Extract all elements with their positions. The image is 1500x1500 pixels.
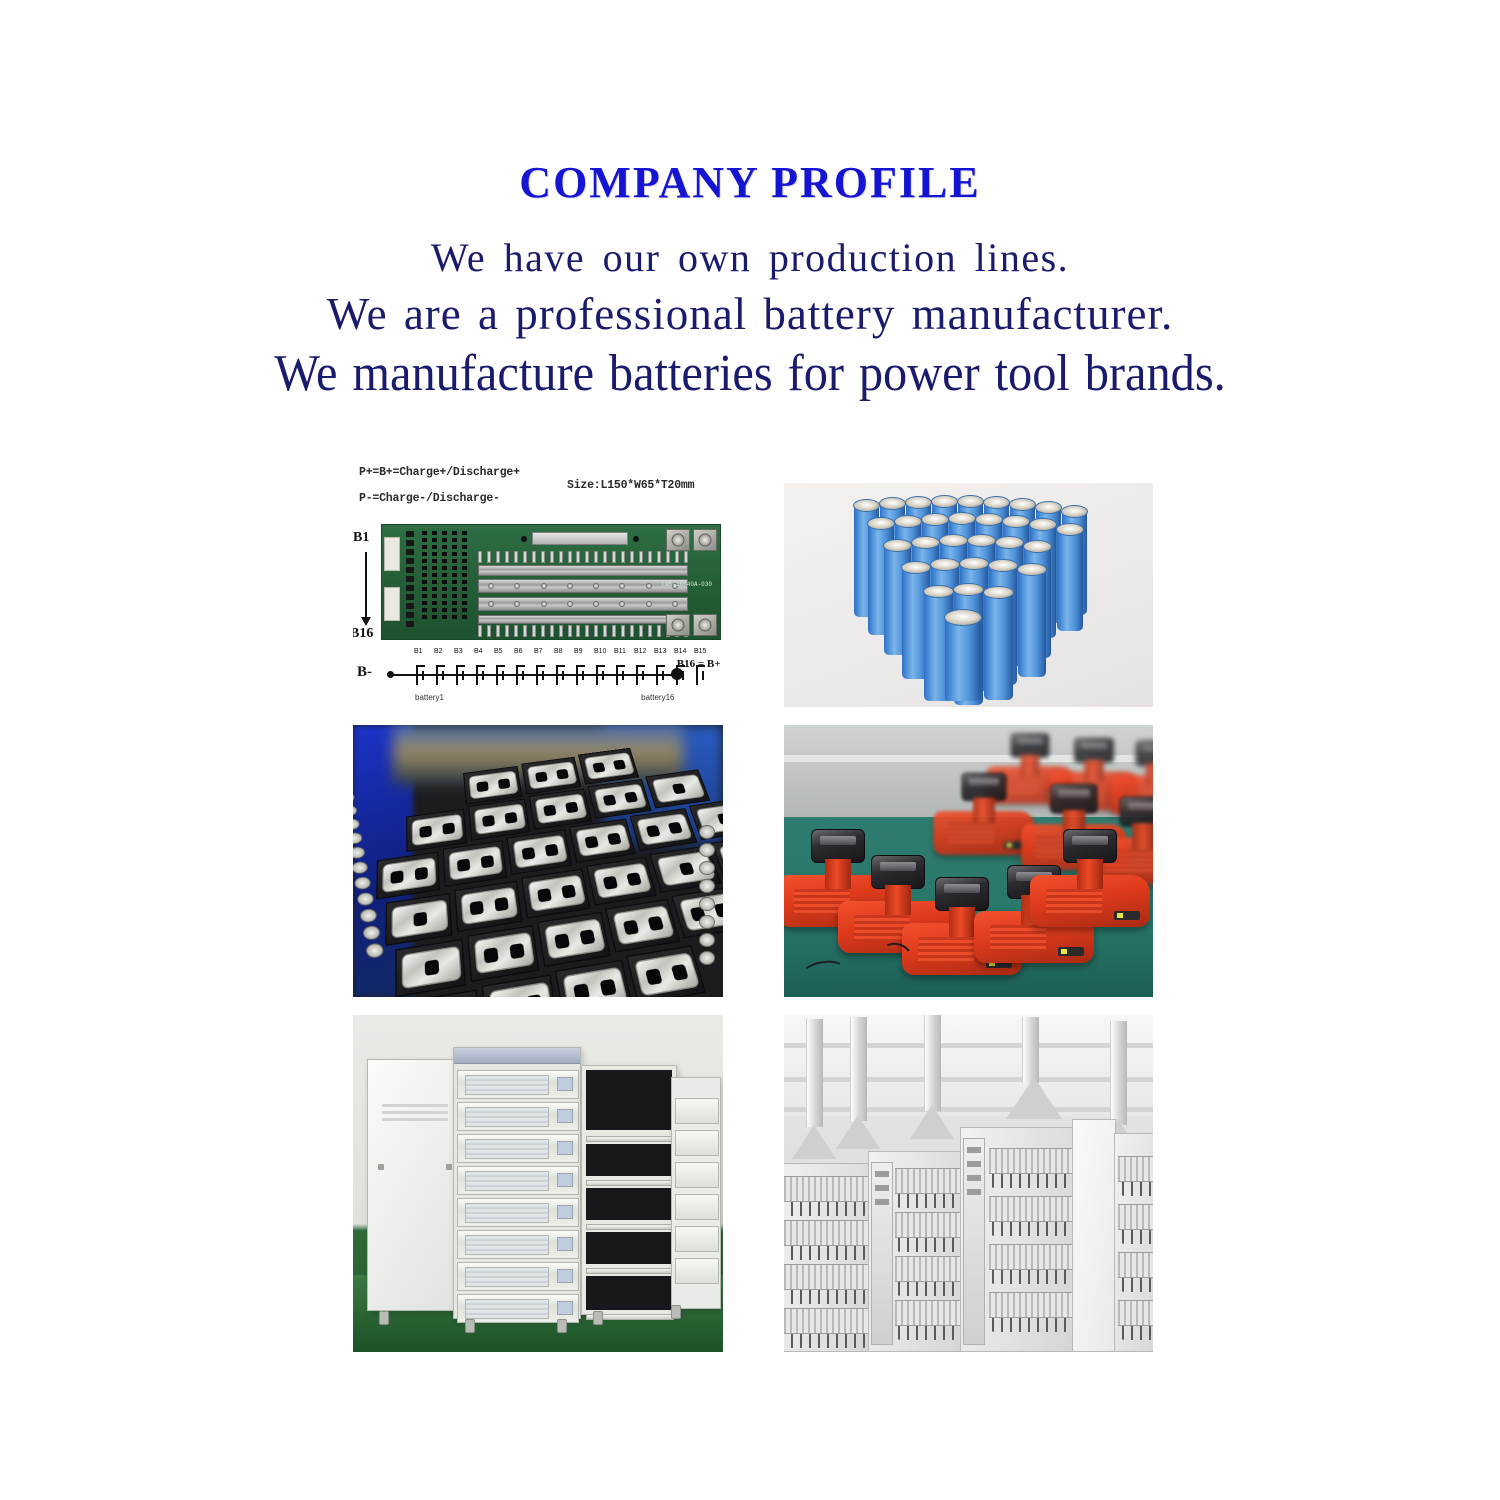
- rack-caster: [593, 1311, 603, 1325]
- schematic-cell-label: B11: [614, 648, 626, 655]
- bms-channel-range: B1 B16: [353, 522, 379, 642]
- heading-block: COMPANY PROFILE We have our own producti…: [0, 160, 1500, 404]
- exhaust-duct: [806, 1019, 823, 1127]
- bms-channel-first: B1: [353, 530, 369, 546]
- test-channel-unit: [675, 1162, 719, 1188]
- bms-board-photo: B1 B16: [353, 522, 723, 642]
- cabinet-shelf: [989, 1244, 1072, 1270]
- prismatic-cell: [467, 925, 539, 982]
- cabinet-cords: [784, 1334, 869, 1348]
- schematic-cell-label: B15: [694, 648, 706, 655]
- cabinet-cords: [989, 1318, 1071, 1332]
- schematic-cell-label: B4: [474, 648, 483, 655]
- pcb-terminal-2: [693, 529, 717, 551]
- power-tool-chargers-photo: [784, 725, 1154, 997]
- schematic-cell: B3: [453, 660, 471, 688]
- test-channel-unit: [675, 1258, 719, 1284]
- prismatic-cell: [395, 939, 466, 997]
- schematic-cell-label: B6: [514, 648, 523, 655]
- rack-caster: [671, 1305, 681, 1319]
- cabinet-shelf: [784, 1176, 870, 1202]
- bms-channel-last: B16: [353, 626, 373, 642]
- cabinet-shelf: [895, 1300, 960, 1326]
- prismatic-cell: [569, 819, 636, 863]
- schematic-cell-label: B12: [634, 648, 646, 655]
- pcb-resistor-strip-3: [442, 531, 447, 635]
- tray-gap: [586, 1188, 672, 1220]
- cell-tray: [586, 1224, 674, 1230]
- exhaust-duct: [1110, 1021, 1127, 1125]
- cabinet-shelf: [784, 1220, 870, 1246]
- test-channel-unit: [457, 1134, 579, 1163]
- tray-gap: [586, 1144, 672, 1176]
- pcb-screw-row-2: [478, 601, 688, 607]
- schematic-cell-label: B9: [574, 648, 583, 655]
- gallery-row-2: [353, 725, 1153, 997]
- schematic-cell-label: B1: [414, 648, 423, 655]
- pcb-resistor-strip-1: [422, 531, 427, 635]
- schematic-cell-row: B1 B2 B3 B4 B5 B6 B7 B8 B9 B10 B11 B12 B…: [413, 660, 711, 688]
- gallery-row-1: P+=B+=Charge+/Discharge+ P-=Charge-/Disc…: [353, 466, 1153, 707]
- prismatic-cell: [443, 840, 508, 887]
- prismatic-cell: [521, 869, 591, 919]
- schematic-cell: B6: [513, 660, 531, 688]
- cell-tray: [586, 1180, 674, 1186]
- monitor-screen: [586, 1070, 672, 1130]
- rack-caster: [379, 1311, 389, 1325]
- test-rack-background: [671, 1077, 721, 1309]
- schematic-cell-label: B7: [534, 648, 543, 655]
- cabinet-shelf: [895, 1168, 960, 1194]
- cabinet-shelf: [895, 1212, 960, 1238]
- exhaust-duct: [1022, 1017, 1039, 1083]
- fume-hood: [836, 1115, 880, 1149]
- schematic-cell: B10: [593, 660, 611, 688]
- schematic-cell-label: B13: [654, 648, 666, 655]
- tagline-line-2: We are a professional battery manufactur…: [0, 289, 1500, 339]
- tray-gap: [586, 1232, 672, 1264]
- down-arrow-icon: [365, 552, 367, 618]
- prismatic-cell: [385, 893, 452, 946]
- schematic-cell: B8: [553, 660, 571, 688]
- formation-cabinet: [784, 1163, 874, 1352]
- pcb-mosfet-row-top: [478, 551, 688, 563]
- pcb-terminal-3: [666, 614, 690, 636]
- prismatic-cell: [463, 766, 522, 805]
- ceiling-beam: [784, 1077, 1154, 1082]
- schematic-cell: B2: [433, 660, 451, 688]
- formation-cabinet: [1114, 1133, 1154, 1352]
- cabinet-hinge: [378, 1164, 384, 1170]
- schematic-cell: B12: [633, 660, 651, 688]
- prismatic-cell: [578, 748, 639, 785]
- cabinet-hinge: [446, 1164, 452, 1170]
- cabinet-cords: [989, 1270, 1071, 1284]
- prismatic-cell: [586, 857, 657, 906]
- cabinet-shelf: [989, 1292, 1072, 1318]
- test-tray-rack: [581, 1065, 677, 1315]
- tagline-line-3: We manufacture batteries for power tool …: [53, 345, 1448, 403]
- cabinet-shelf: [1118, 1252, 1154, 1278]
- cabinet-cords: [989, 1174, 1071, 1188]
- pcb-ribbon-connector: [532, 532, 628, 545]
- page-title: COMPANY PROFILE: [0, 160, 1500, 206]
- schematic-first-cell-caption: battery1: [415, 693, 444, 702]
- prismatic-cell: [605, 899, 680, 953]
- battery-cell: [984, 592, 1013, 700]
- pcb-screw-row-1: [478, 583, 688, 589]
- pcb-connector-bottom: [384, 587, 400, 621]
- prismatic-cell: [406, 809, 467, 852]
- rack-caster: [557, 1319, 567, 1333]
- test-channel-unit: [675, 1194, 719, 1220]
- schematic-cell-label: B5: [494, 648, 503, 655]
- cabinet-shelf: [989, 1148, 1072, 1174]
- formation-cabinet: [868, 1151, 964, 1352]
- cabinet-cords: [895, 1238, 959, 1252]
- test-channel-unit: [457, 1230, 579, 1259]
- prismatic-cell: [537, 912, 611, 967]
- test-channel-unit: [457, 1166, 579, 1195]
- cabinet-shelf: [784, 1264, 870, 1290]
- prismatic-cell: [454, 881, 522, 932]
- image-gallery-grid: P+=B+=Charge+/Discharge+ P-=Charge-/Disc…: [353, 466, 1153, 1370]
- cabinet-cords: [1119, 1278, 1154, 1292]
- ceiling-beam: [784, 1043, 1154, 1048]
- prismatic-cell-array: [353, 739, 722, 997]
- exhaust-duct: [850, 1017, 867, 1121]
- fume-hood: [792, 1125, 836, 1159]
- cabinet-control-panel: [871, 1162, 893, 1345]
- cabinet-shelf: [1118, 1156, 1154, 1182]
- formation-cabinet: [960, 1127, 1076, 1352]
- cabinet-shelf: [895, 1256, 960, 1282]
- schematic-cell-label: B10: [594, 648, 606, 655]
- schematic-cell-label: B8: [554, 648, 563, 655]
- company-profile-page: COMPANY PROFILE We have our own producti…: [0, 0, 1500, 1500]
- prismatic-cell: [468, 798, 530, 840]
- test-channel-unit: [675, 1098, 719, 1124]
- fume-hood: [910, 1105, 954, 1139]
- schematic-negative-terminal: B-: [357, 664, 372, 681]
- cabinet-shelf: [1118, 1300, 1154, 1326]
- pcb-ic-column-1: [406, 531, 414, 635]
- prismatic-cell: [626, 945, 706, 997]
- pcb-heatsink-bottom: [478, 615, 688, 624]
- cabinet-vent-slots: [382, 1104, 448, 1107]
- pcb-silkscreen-text: LWS-16S40A-030: [662, 581, 712, 588]
- schematic-cell: B4: [473, 660, 491, 688]
- cell-can-edge-right: [699, 825, 721, 985]
- pcb-heatsink-top: [478, 565, 688, 576]
- test-channel-rack: [453, 1047, 581, 1319]
- cabinet-cords: [784, 1202, 869, 1216]
- test-channel-unit: [457, 1070, 579, 1099]
- bms-board-figure: P+=B+=Charge+/Discharge+ P-=Charge-/Disc…: [353, 466, 723, 707]
- pcb-resistor-strip-5: [462, 531, 467, 635]
- cabinet-cords: [1119, 1230, 1154, 1244]
- pcb-mosfet-row-bottom: [478, 625, 688, 637]
- schematic-last-cell-caption: battery16: [641, 693, 674, 702]
- prismatic-cell: [529, 789, 592, 830]
- prismatic-cell: [588, 779, 652, 819]
- battery-cell-front: [945, 617, 981, 701]
- schematic-cell-label: B3: [454, 648, 463, 655]
- cabinet-shelf: [784, 1308, 870, 1334]
- battery-cell: [1018, 569, 1046, 677]
- battery-cell: [1057, 529, 1083, 631]
- charger-unit: [933, 811, 1034, 855]
- pcb-terminal-4: [693, 614, 717, 636]
- cell-tray: [586, 1136, 674, 1142]
- factory-ceiling: [784, 1015, 1154, 1116]
- cabinet-side-panel: [1072, 1119, 1116, 1352]
- prismatic-cell: [645, 769, 710, 808]
- battery-test-equipment-photo: [353, 1015, 723, 1352]
- cabinet-control-panel: [963, 1138, 985, 1345]
- exhaust-duct: [924, 1015, 941, 1111]
- cabinet-cords: [989, 1222, 1071, 1236]
- formation-cabinets-photo: [784, 1015, 1154, 1352]
- cabinet-cords: [1119, 1326, 1154, 1340]
- prismatic-cell: [376, 852, 440, 900]
- prismatic-cell: [555, 959, 633, 997]
- bms-label-negative: P-=Charge-/Discharge-: [359, 492, 500, 505]
- cabinet-cords: [784, 1290, 869, 1304]
- cabinet-shelf: [1118, 1204, 1154, 1230]
- prismatic-cell: [521, 757, 581, 795]
- cell-string-schematic: B- B1 B2 B3 B4 B5 B6 B7 B8 B9 B10: [353, 646, 723, 702]
- ceiling-beam: [784, 1107, 1154, 1112]
- test-channel-unit: [675, 1226, 719, 1252]
- cabinet-cords: [1119, 1182, 1154, 1196]
- schematic-cell-label: B14: [674, 648, 686, 655]
- cylindrical-cells-photo: [784, 483, 1154, 707]
- prismatic-cell: [507, 829, 573, 875]
- tagline-line-1: We have our own production lines.: [0, 236, 1500, 281]
- test-channel-unit: [457, 1198, 579, 1227]
- cabinet-cords: [895, 1194, 959, 1208]
- test-channel-unit: [457, 1262, 579, 1291]
- schematic-cell: B9: [573, 660, 591, 688]
- schematic-cell: B1: [413, 660, 431, 688]
- schematic-positive-terminal: B16 = B+: [677, 658, 721, 670]
- prismatic-cell: [630, 808, 698, 851]
- tray-gap: [586, 1276, 672, 1310]
- charger-unit: [1030, 875, 1150, 927]
- prismatic-cells-photo: [353, 725, 723, 997]
- test-cabinet-door: [367, 1059, 463, 1311]
- pcb-connector-top: [384, 537, 400, 571]
- cell-tray: [586, 1268, 674, 1274]
- pcb-board: LWS-16S40A-030: [381, 524, 721, 640]
- gallery-row-3: [353, 1015, 1153, 1352]
- cabinet-cords: [895, 1326, 959, 1340]
- schematic-cell: B5: [493, 660, 511, 688]
- bms-spec-labels: P+=B+=Charge+/Discharge+ P-=Charge-/Disc…: [353, 466, 723, 522]
- fume-hood: [1006, 1077, 1062, 1119]
- schematic-cell: B7: [533, 660, 551, 688]
- schematic-cell: B11: [613, 660, 631, 688]
- cabinet-shelf: [989, 1196, 1072, 1222]
- schematic-cell: B13: [653, 660, 671, 688]
- schematic-cell-label: B2: [434, 648, 443, 655]
- rack-caster: [465, 1319, 475, 1333]
- test-channel-unit: [675, 1130, 719, 1156]
- bms-label-positive: P+=B+=Charge+/Discharge+: [359, 466, 520, 479]
- cabinet-cords: [895, 1282, 959, 1296]
- bms-label-size: Size:L150*W65*T20mm: [567, 479, 694, 492]
- test-channel-unit: [457, 1102, 579, 1131]
- pcb-resistor-strip-2: [432, 531, 437, 635]
- pcb-terminal-1: [666, 529, 690, 551]
- pcb-resistor-strip-4: [452, 531, 457, 635]
- cabinet-cords: [784, 1246, 869, 1260]
- rack-header-panel: [454, 1048, 580, 1064]
